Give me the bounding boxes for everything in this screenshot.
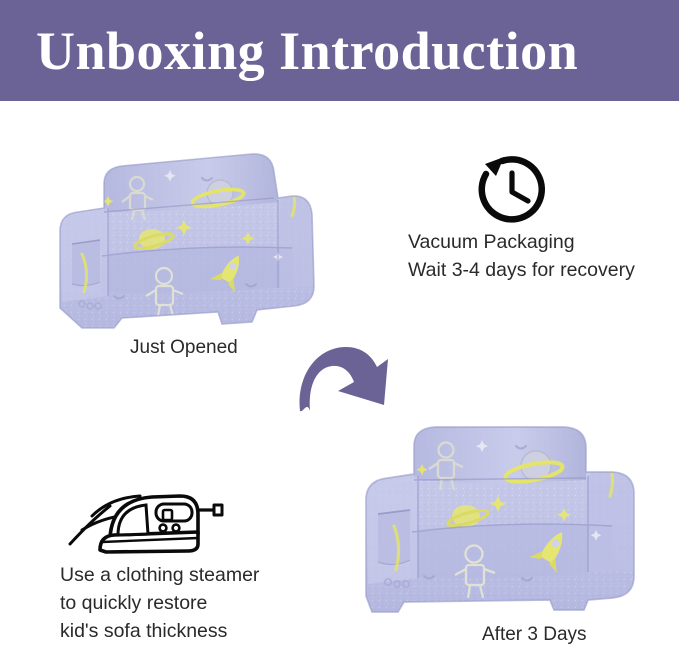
- caption-after-3-days: After 3 Days: [482, 622, 587, 648]
- header-banner: Unboxing Introduction: [0, 0, 679, 101]
- steamer-instruction-note: Use a clothing steamer to quickly restor…: [60, 561, 360, 645]
- sofa-image-just-opened: [42, 136, 337, 331]
- curved-transition-arrow: [294, 341, 394, 420]
- clothes-iron-icon: [66, 472, 232, 556]
- history-clock-icon: [472, 152, 550, 228]
- caption-just-opened: Just Opened: [130, 335, 238, 361]
- vacuum-packaging-label: Vacuum Packaging: [408, 228, 674, 256]
- unboxing-introduction-infographic: Unboxing Introduction: [0, 0, 679, 655]
- sofa-image-after-3-days: [350, 410, 660, 615]
- recovery-wait-label: Wait 3-4 days for recovery: [408, 256, 674, 284]
- page-title: Unboxing Introduction: [36, 24, 578, 78]
